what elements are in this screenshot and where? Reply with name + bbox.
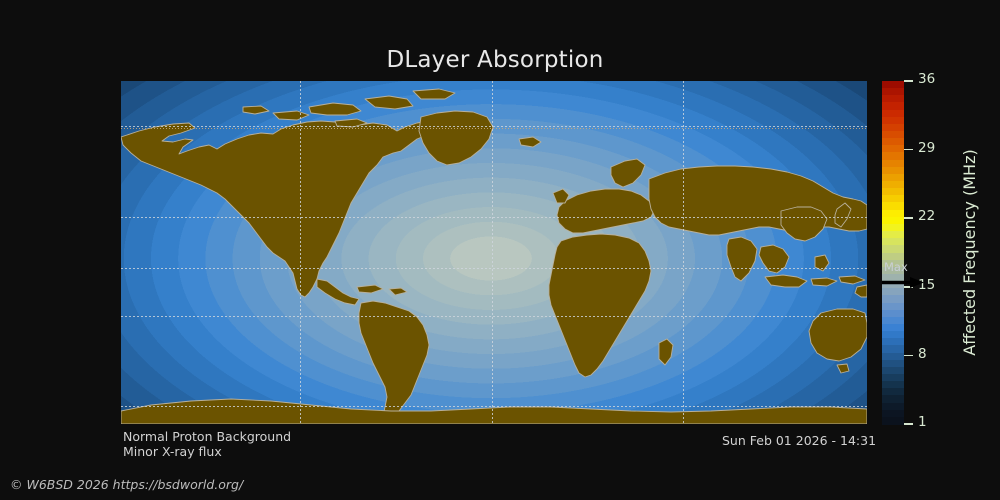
copyright-label: © W6BSD 2026 https://bsdworld.org/	[10, 479, 243, 492]
colorbar-tick-label: 22	[918, 210, 935, 224]
colorbar-tick-label: 36	[918, 73, 935, 87]
world-map-panel[interactable]	[121, 81, 867, 424]
colorbar-tick-label: 29	[918, 142, 935, 156]
tick-dash-icon	[904, 355, 913, 357]
proton-background-status: Normal Proton Background	[123, 431, 291, 444]
max-arrow-icon	[882, 277, 924, 288]
colorbar[interactable]	[882, 81, 904, 424]
tick-dash-icon	[904, 149, 913, 151]
tick-dash-icon	[904, 423, 913, 425]
page-title: DLayer Absorption	[0, 47, 990, 73]
colorbar-segment	[882, 417, 904, 425]
tick-dash-icon	[904, 80, 913, 82]
timestamp-label: Sun Feb 01 2026 - 14:31	[722, 435, 876, 448]
colorbar-tick-label: 1	[918, 416, 927, 430]
colorbar-axis-label: Affected Frequency (MHz)	[960, 81, 984, 424]
xray-flux-status: Minor X-ray flux	[123, 446, 222, 459]
colorbar-tick-label: 8	[918, 348, 927, 362]
app-root: DLayer Absorption	[0, 0, 1000, 500]
max-marker-label: Max	[884, 262, 908, 274]
tick-dash-icon	[904, 217, 913, 219]
colorbar-ticks: 3629221581	[904, 81, 964, 424]
colorbar-max-marker: Max	[882, 262, 944, 292]
coastline-layer	[121, 81, 867, 424]
